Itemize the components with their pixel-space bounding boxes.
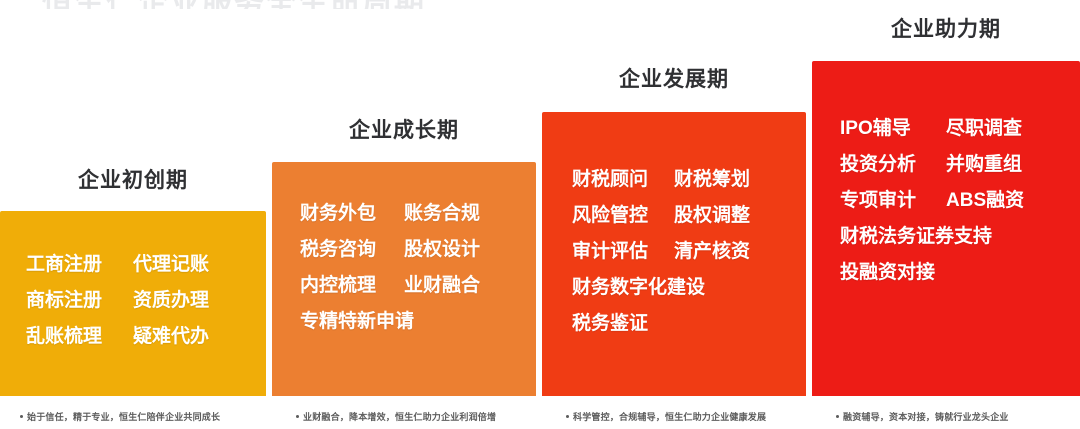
service-item[interactable]: IPO辅导 [840, 111, 946, 147]
bullet-icon [20, 415, 23, 418]
service-item[interactable]: 资质办理 [133, 283, 240, 319]
service-item[interactable]: 财税法务证券支持 [840, 219, 1052, 255]
service-item[interactable]: 股权调整 [674, 198, 776, 234]
stage-3-title: 企业发展期 [542, 63, 806, 93]
service-item[interactable]: 并购重组 [946, 147, 1052, 183]
service-item[interactable]: 财务外包 [300, 196, 404, 232]
stage-2-footnote-text: 业财融合，降本增效，恒生仁助力企业利润倍增 [303, 412, 496, 422]
service-item[interactable]: 商标注册 [26, 283, 133, 319]
service-item[interactable]: 疑难代办 [133, 319, 240, 355]
stage-4-footnote: 融资辅导，资本对接，铸就行业龙头企业 [836, 410, 1009, 423]
service-item[interactable]: 工商注册 [26, 247, 133, 283]
bullet-icon [566, 415, 569, 418]
service-item[interactable]: 账务合规 [404, 196, 508, 232]
service-item[interactable]: ABS融资 [946, 183, 1052, 219]
service-item[interactable]: 税务鉴证 [572, 306, 776, 342]
service-item[interactable]: 财务数字化建设 [572, 270, 776, 306]
stage-3-service-list: 财税顾问 财税筹划 风险管控 股权调整 审计评估 清产核资 财务数字化建设 税务… [542, 162, 806, 342]
stage-1-title: 企业初创期 [0, 164, 266, 194]
stage-3-footnote: 科学管控，合规辅导，恒生仁助力企业健康发展 [566, 410, 766, 423]
stage-2-title: 企业成长期 [272, 114, 536, 144]
cropped-headline-text: 恒生仁企业服务全生命周期 [42, 0, 426, 9]
growth-stages-infographic: 恒生仁企业服务全生命周期 企业初创期 工商注册 代理记账 商标注册 资质办理 乱… [0, 0, 1080, 429]
stage-column-4[interactable]: 企业助力期 IPO辅导 尽职调查 投资分析 并购重组 专项审计 ABS融资 财税… [812, 61, 1080, 396]
cropped-headline-sliver: 恒生仁企业服务全生命周期 [0, 0, 1080, 9]
service-item[interactable]: 审计评估 [572, 234, 674, 270]
service-item[interactable]: 业财融合 [404, 268, 508, 304]
stage-1-service-list: 工商注册 代理记账 商标注册 资质办理 乱账梳理 疑难代办 [0, 247, 266, 355]
service-item[interactable]: 尽职调查 [946, 111, 1052, 147]
stage-3-footnote-text: 科学管控，合规辅导，恒生仁助力企业健康发展 [573, 412, 766, 422]
service-item[interactable]: 投资分析 [840, 147, 946, 183]
stage-column-3[interactable]: 企业发展期 财税顾问 财税筹划 风险管控 股权调整 审计评估 清产核资 财务数字… [542, 112, 806, 396]
service-item[interactable]: 投融资对接 [840, 255, 1052, 291]
service-item[interactable]: 内控梳理 [300, 268, 404, 304]
bullet-icon [836, 415, 839, 418]
stage-2-footnote: 业财融合，降本增效，恒生仁助力企业利润倍增 [296, 410, 496, 423]
stage-column-1[interactable]: 企业初创期 工商注册 代理记账 商标注册 资质办理 乱账梳理 疑难代办 [0, 211, 266, 396]
service-item[interactable]: 清产核资 [674, 234, 776, 270]
stage-column-2[interactable]: 企业成长期 财务外包 账务合规 税务咨询 股权设计 内控梳理 业财融合 专精特新… [272, 162, 536, 396]
stage-4-title: 企业助力期 [812, 13, 1080, 43]
service-item[interactable]: 专项审计 [840, 183, 946, 219]
stage-2-service-list: 财务外包 账务合规 税务咨询 股权设计 内控梳理 业财融合 专精特新申请 [272, 196, 536, 340]
service-item[interactable]: 股权设计 [404, 232, 508, 268]
stage-1-footnote: 始于信任，精于专业，恒生仁陪伴企业共同成长 [20, 410, 220, 423]
bullet-icon [296, 415, 299, 418]
service-item[interactable]: 乱账梳理 [26, 319, 133, 355]
service-item[interactable]: 财税顾问 [572, 162, 674, 198]
service-item[interactable]: 税务咨询 [300, 232, 404, 268]
service-item[interactable]: 财税筹划 [674, 162, 776, 198]
service-item[interactable]: 风险管控 [572, 198, 674, 234]
stage-4-service-list: IPO辅导 尽职调查 投资分析 并购重组 专项审计 ABS融资 财税法务证券支持… [812, 111, 1080, 291]
service-item[interactable]: 专精特新申请 [300, 304, 508, 340]
stage-1-footnote-text: 始于信任，精于专业，恒生仁陪伴企业共同成长 [27, 412, 220, 422]
stage-4-footnote-text: 融资辅导，资本对接，铸就行业龙头企业 [843, 412, 1009, 422]
service-item[interactable]: 代理记账 [133, 247, 240, 283]
